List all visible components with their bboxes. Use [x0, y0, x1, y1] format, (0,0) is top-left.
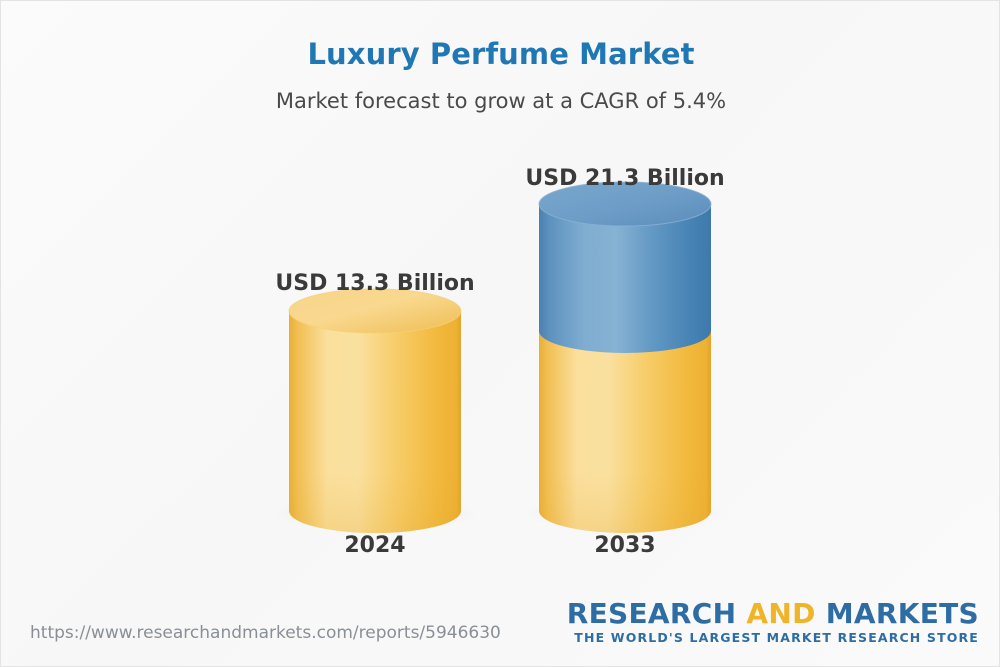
logo-and-text: AND [746, 597, 815, 630]
report-url[interactable]: https://www.researchandmarkets.com/repor… [30, 623, 501, 643]
logo-wordmark: RESEARCH AND MARKETS [567, 599, 979, 628]
chart-canvas: Luxury Perfume Market Market forecast to… [0, 0, 1000, 667]
bar-2024-foot-shade [289, 471, 461, 533]
bar-2033-foot-shade [539, 471, 711, 533]
logo-markets-text: MARKETS [816, 597, 979, 630]
category-label-2033: 2033 [525, 533, 725, 558]
value-label-2024: USD 13.3 Billion [275, 271, 475, 296]
value-label-2033: USD 21.3 Billion [525, 166, 725, 191]
logo-research-text: RESEARCH [567, 597, 747, 630]
bar-2033[interactable] [539, 182, 711, 533]
bar-chart-plot [1, 1, 1000, 667]
bar-2024[interactable] [289, 289, 461, 533]
category-label-2024: 2024 [275, 533, 475, 558]
research-and-markets-logo[interactable]: RESEARCH AND MARKETS THE WORLD'S LARGEST… [567, 599, 979, 645]
logo-tagline: THE WORLD'S LARGEST MARKET RESEARCH STOR… [567, 630, 979, 645]
